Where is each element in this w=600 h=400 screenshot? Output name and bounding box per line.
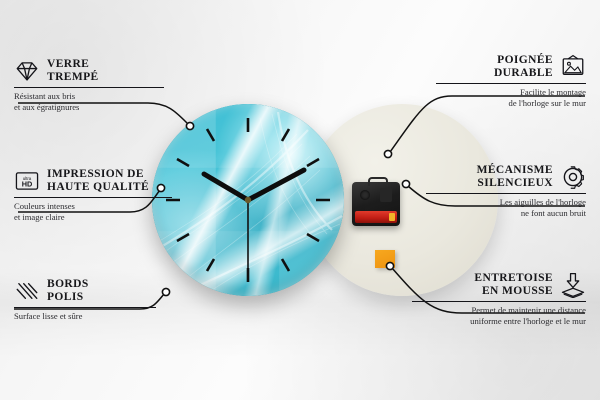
callout-subtitle-line1: Surface lisse et sûre	[14, 311, 156, 322]
callout-title: IMPRESSION DE HAUTE QUALITÉ	[47, 168, 149, 194]
callout-entretoise-en-mousse: ENTRETOISE EN MOUSSE Permet de maintenir…	[412, 272, 586, 327]
callout-divider	[14, 87, 164, 88]
ultra-hd-icon: ultra HD	[14, 168, 40, 194]
callout-divider	[14, 307, 156, 308]
callout-impression-haute-qualite: ultra HD IMPRESSION DE HAUTE QUALITÉ Cou…	[14, 168, 172, 223]
hour-hand	[204, 174, 248, 200]
callout-subtitle-line1: Facilite le montage	[436, 87, 586, 98]
callout-subtitle-line1: Les aiguilles de l'horloge	[426, 197, 586, 208]
clock-mechanism	[352, 182, 400, 226]
callout-title: MÉCANISME SILENCIEUX	[477, 164, 553, 190]
callout-header: MÉCANISME SILENCIEUX	[426, 164, 586, 190]
callout-poignee-durable: POIGNÉE DURABLE Facilite le montage de l…	[436, 54, 586, 109]
mechanism-knob-icon	[360, 190, 370, 200]
clock-front-face	[152, 104, 344, 296]
callout-bords-polis: BORDS POLIS Surface lisse et sûre	[14, 278, 156, 322]
callout-divider	[426, 193, 586, 194]
callout-title: ENTRETOISE EN MOUSSE	[474, 272, 553, 298]
minute-hand	[248, 170, 304, 200]
foam-spacer	[375, 250, 395, 268]
infographic-canvas: VERRE TREMPÉ Résistant aux bris et aux é…	[0, 0, 600, 400]
callout-title: BORDS POLIS	[47, 278, 89, 304]
picture-frame-hanger-icon	[560, 54, 586, 80]
callout-subtitle-line1: Permet de maintenir une distance	[412, 305, 586, 316]
callout-subtitle-line2: de l'horloge sur le mur	[436, 98, 586, 109]
callout-header: VERRE TREMPÉ	[14, 58, 164, 84]
callout-header: ultra HD IMPRESSION DE HAUTE QUALITÉ	[14, 168, 172, 194]
diamond-icon	[14, 58, 40, 84]
callout-verre-trempe: VERRE TREMPÉ Résistant aux bris et aux é…	[14, 58, 164, 113]
battery-icon	[355, 211, 397, 223]
callout-divider	[14, 197, 172, 198]
callout-header: ENTRETOISE EN MOUSSE	[412, 272, 586, 298]
callout-subtitle-line2: et aux égratignures	[14, 102, 164, 113]
mechanism-module-icon	[380, 188, 392, 202]
callout-subtitle-line2: et image claire	[14, 212, 172, 223]
callout-header: POIGNÉE DURABLE	[436, 54, 586, 80]
arrow-down-layers-icon	[560, 272, 586, 298]
callout-header: BORDS POLIS	[14, 278, 156, 304]
callout-divider	[436, 83, 586, 84]
callout-title: POIGNÉE DURABLE	[494, 54, 553, 80]
clock-hands	[152, 104, 344, 296]
callout-divider	[412, 301, 586, 302]
clock-center-cap	[245, 197, 251, 203]
callout-subtitle-line1: Couleurs intenses	[14, 201, 172, 212]
gear-icon	[560, 164, 586, 190]
callout-subtitle-line2: ne font aucun bruit	[426, 208, 586, 219]
callout-mecanisme-silencieux: MÉCANISME SILENCIEUX Les aiguilles de l'…	[426, 164, 586, 219]
callout-subtitle-line2: uniforme entre l'horloge et le mur	[412, 316, 586, 327]
callout-title: VERRE TREMPÉ	[47, 58, 99, 84]
svg-text:HD: HD	[22, 180, 33, 189]
polished-edges-icon	[14, 278, 40, 304]
callout-subtitle-line1: Résistant aux bris	[14, 91, 164, 102]
